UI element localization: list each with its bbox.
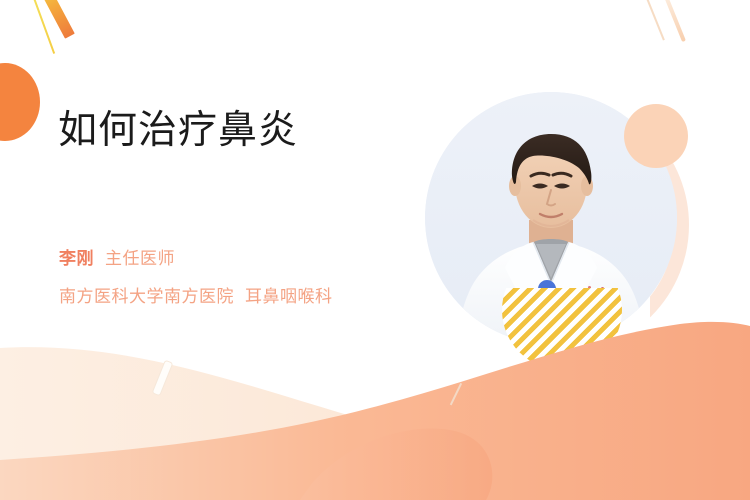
sliver-accent-icon-b — [450, 383, 462, 405]
doctor-name: 李刚 — [59, 249, 94, 268]
thumbnail-card: 如何治疗鼻炎 李刚主任医师 南方医科大学南方医院耳鼻咽喉科 — [0, 0, 750, 500]
bottom-wave-decor — [0, 280, 750, 500]
hospital-name: 南方医科大学南方医院 — [59, 287, 234, 306]
top-right-line-icon-a — [662, 0, 686, 42]
sliver-accent-icon — [152, 360, 174, 397]
doctor-affiliation: 南方医科大学南方医院耳鼻咽喉科 — [59, 288, 333, 305]
department-name: 耳鼻咽喉科 — [245, 287, 333, 306]
page-title: 如何治疗鼻炎 — [58, 108, 298, 155]
doctor-title: 主任医师 — [105, 249, 175, 268]
doctor-byline: 李刚主任医师 — [59, 250, 175, 268]
orange-circle-decor — [0, 63, 40, 141]
diagonal-ribbon-icon — [36, 0, 75, 39]
doctor-portrait — [425, 92, 677, 344]
top-right-line-icon-b — [645, 0, 664, 41]
diagonal-line-icon — [30, 0, 55, 54]
